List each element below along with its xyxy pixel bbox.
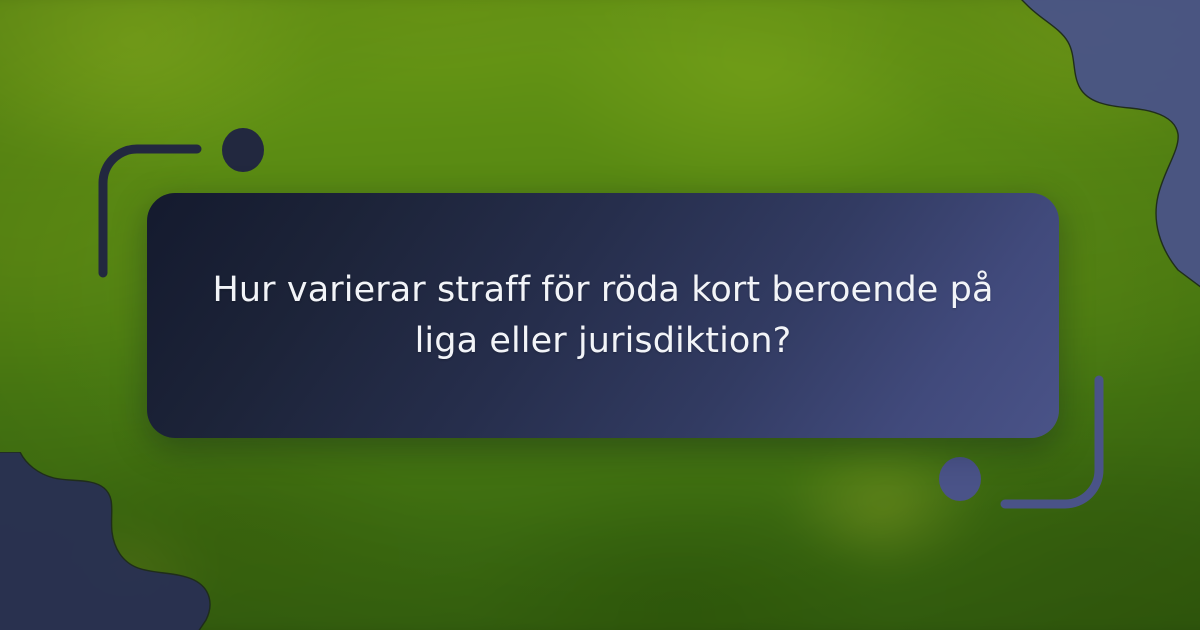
decorative-dot: [222, 128, 264, 172]
corner-blob-bottom-left: [0, 452, 228, 630]
quote-card: Hur varierar straff för röda kort beroen…: [147, 193, 1059, 438]
social-quote-card-image: Hur varierar straff för röda kort beroen…: [0, 0, 1200, 630]
decorative-dot: [939, 457, 981, 501]
quote-text: Hur varierar straff för röda kort beroen…: [201, 265, 1005, 366]
